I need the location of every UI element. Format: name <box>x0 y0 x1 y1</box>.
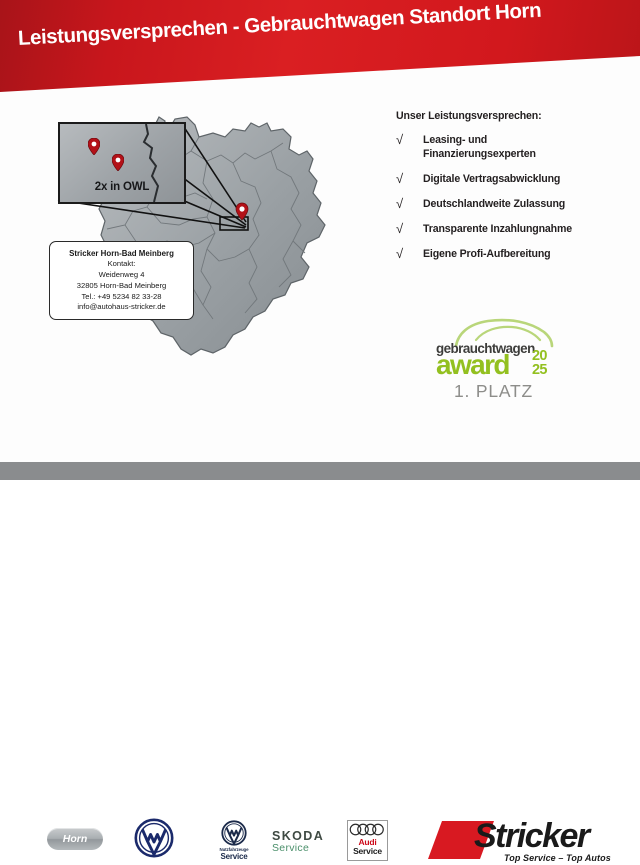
stricker-slogan: Top Service – Top Autos <box>504 853 611 863</box>
address-phone: Tel.: +49 5234 82 33-28 <box>54 292 189 303</box>
award-badge: gebrauchtwagen award 20 25 1. PLATZ <box>428 318 578 396</box>
promise-item-2: √ Digitale Vertragsabwicklung <box>396 173 634 187</box>
vw-nutzfahrzeuge-line2: Service <box>203 852 265 861</box>
award-year-bottom: 25 <box>532 364 547 378</box>
skoda-service-logo: SKODA Service <box>272 829 324 854</box>
address-email: info@autohaus-stricker.de <box>54 302 189 313</box>
audi-rings-icon <box>349 823 386 836</box>
vw-logo-icon <box>134 818 174 858</box>
skoda-service-label: Service <box>272 842 324 854</box>
slide-canvas: Leistungsversprechen - Gebrauchtwagen St… <box>0 0 640 480</box>
skoda-wordmark: SKODA <box>272 829 324 843</box>
promise-item-1: √ Leasing- und Finanzierungsexperten <box>396 134 634 162</box>
promises-list: √ Leasing- und Finanzierungsexperten √ D… <box>396 134 634 273</box>
promise-label-line2: Finanzierungsexperten <box>423 148 634 162</box>
check-icon: √ <box>396 222 410 235</box>
pin-owl-1 <box>88 138 100 155</box>
address-city: 32805 Horn-Bad Meinberg <box>54 281 189 292</box>
owl-callout-box: 2x in OWL <box>58 122 186 204</box>
award-year: 20 25 <box>532 350 547 377</box>
address-box: Stricker Horn-Bad Meinberg Kontakt: Weid… <box>49 241 194 320</box>
brand-logo-bar: Horn Nutzfahrzeuge Service SKODA Service <box>0 405 640 463</box>
promise-label: Digitale Vertragsabwicklung <box>423 173 634 187</box>
vw-roundel-icon <box>221 820 247 846</box>
promise-item-5: √ Eigene Profi-Aufbereitung <box>396 248 634 262</box>
promise-item-3: √ Deutschlandweite Zulassung <box>396 198 634 212</box>
address-contact-label: Kontakt: <box>54 259 189 270</box>
promise-item-4: √ Transparente Inzahlungnahme <box>396 223 634 237</box>
check-icon: √ <box>396 172 410 185</box>
vw-nutzfahrzeuge-logo: Nutzfahrzeuge Service <box>203 820 265 861</box>
address-company: Stricker Horn-Bad Meinberg <box>54 248 189 259</box>
promises-heading: Unser Leistungsversprechen: <box>396 110 542 122</box>
check-icon: √ <box>396 197 410 210</box>
pin-owl-2 <box>112 154 124 171</box>
stricker-logo: Stricker Top Service – Top Autos <box>428 813 628 865</box>
footer-bar <box>0 462 640 480</box>
germany-map: 2x in OWL Stricker Horn-Bad Meinberg Kon… <box>40 105 390 405</box>
horn-logo-label: Horn <box>47 828 103 850</box>
promise-label: Transparente Inzahlungnahme <box>423 223 634 237</box>
address-street: Weidenweg 4 <box>54 270 189 281</box>
audi-service-label: Service <box>348 846 387 856</box>
callout-label: 2x in OWL <box>60 181 184 193</box>
audi-service-logo: Audi Service <box>347 820 388 861</box>
promise-label: Eigene Profi-Aufbereitung <box>423 248 634 262</box>
check-icon: √ <box>396 133 410 146</box>
horn-logo: Horn <box>47 828 103 850</box>
stricker-wordmark: Stricker <box>474 819 589 853</box>
award-rank: 1. PLATZ <box>454 381 533 402</box>
award-line2: award <box>436 351 509 379</box>
promise-label: Leasing- und <box>423 134 634 148</box>
check-icon: √ <box>396 247 410 260</box>
promise-label: Deutschlandweite Zulassung <box>423 198 634 212</box>
